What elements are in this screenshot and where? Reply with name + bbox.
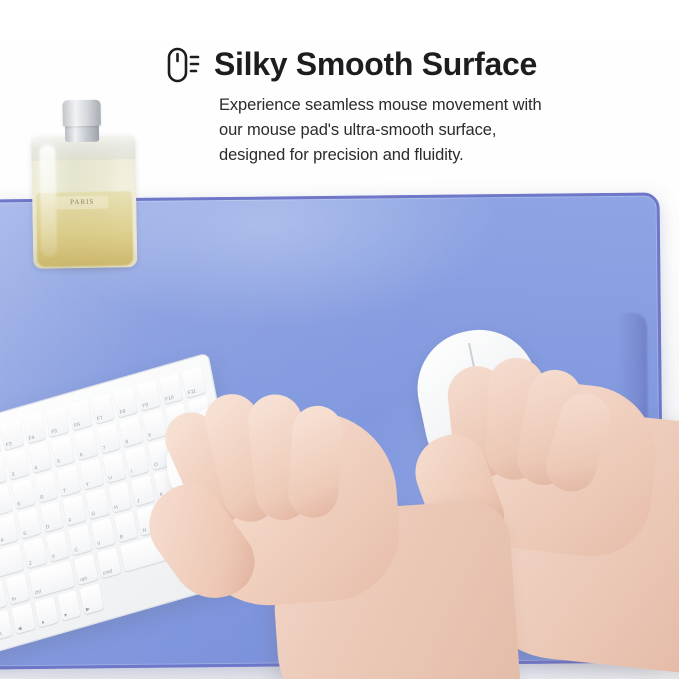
keyboard-key: opt [74, 554, 98, 585]
keyboard-key: ◀ [12, 603, 36, 634]
body-copy-line-3: designed for precision and fluidity. [219, 143, 639, 168]
keyboard-key: X [46, 531, 70, 562]
keyboard-key: W [0, 485, 13, 516]
keyboard-key: F6 [68, 400, 92, 431]
keyboard-key: F8 [114, 386, 138, 417]
keyboard-key: 3 [6, 449, 30, 480]
perfume-bottle-highlight [39, 144, 57, 256]
headline-row: Silky Smooth Surface [166, 44, 537, 84]
keyboard-key: cmd [97, 547, 121, 578]
keyboard-key: A [0, 514, 18, 545]
keyboard-key: C [68, 524, 92, 555]
keyboard-key: V [91, 518, 115, 549]
keyboard-key: F7 [91, 393, 115, 424]
keyboard-key: 8 [119, 416, 143, 447]
keyboard-key: 2 [0, 455, 7, 486]
keyboard-key: F10 [159, 373, 183, 404]
product-photo: PARIS escF1F2F3F4F5F6F7F8F9F10F11~123456… [0, 0, 679, 679]
keyboard-key: G [85, 488, 109, 519]
keyboard-key: ▼ [57, 590, 81, 621]
keyboard-key: U [102, 452, 126, 483]
keyboard-key: Y [80, 459, 104, 490]
keyboard-key: ▶ [80, 583, 104, 614]
keyboard-key: B [114, 511, 138, 542]
keyboard-key: F5 [45, 406, 69, 437]
keyboard-key: F4 [23, 413, 47, 444]
finger-center-4 [287, 404, 345, 519]
keyboard-key: sh [0, 580, 7, 611]
keyboard-key: 4 [28, 442, 52, 473]
computer-mouse-icon [166, 44, 200, 84]
keyboard-key: F3 [0, 419, 24, 450]
body-copy: Experience seamless mouse movement with … [219, 93, 639, 168]
perfume-label: PARIS [56, 196, 108, 210]
keyboard-key: fn [6, 573, 30, 604]
headline-text: Silky Smooth Surface [214, 48, 537, 80]
keyboard-key: E [11, 478, 35, 509]
keyboard-key: R [34, 472, 58, 503]
keyboard-key: D [40, 501, 64, 532]
keyboard-key: H [108, 482, 132, 513]
keyboard-key: F [63, 495, 87, 526]
perfume-bottle-cap [62, 100, 100, 127]
keyboard-key: Z [23, 537, 47, 568]
body-copy-line-2: our mouse pad's ultra-smooth surface, [219, 118, 639, 143]
keyboard-key: 7 [97, 423, 121, 454]
keyboard-key: 6 [74, 429, 98, 460]
keyboard-key: S [17, 508, 41, 539]
hand-center [140, 381, 490, 679]
keyboard-key: T [57, 465, 81, 496]
perfume-bottle: PARIS [22, 99, 145, 276]
body-copy-line-1: Experience seamless mouse movement with [219, 93, 639, 118]
keyboard-key: ▲ [34, 596, 58, 627]
keyboard-key: 5 [51, 436, 75, 467]
